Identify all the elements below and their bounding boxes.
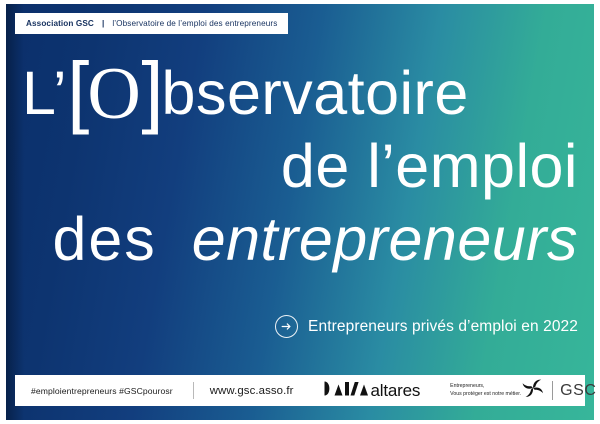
footer-divider: [193, 382, 194, 399]
gsc-pinwheel-icon: [521, 376, 545, 405]
poster-cover: Association GSC | l’Observatoire de l’em…: [0, 0, 600, 424]
subtitle-row: Entrepreneurs privés d’emploi en 2022: [275, 315, 578, 338]
eyebrow-separator: |: [102, 19, 104, 28]
headline-prefix: L’: [22, 59, 67, 127]
headline-line-1: L’[O]bservatoire: [22, 64, 578, 124]
gsc-logo: GSC: [521, 376, 600, 405]
eyebrow-organisation: Association GSC: [26, 19, 94, 28]
subtitle-text: Entrepreneurs privés d’emploi en 2022: [308, 318, 578, 336]
footer-website-url[interactable]: www.gsc.asso.fr: [210, 385, 294, 397]
footer-bar: #emploientrepreneurs #GSCpourosr www.gsc…: [15, 375, 585, 406]
gsc-tagline: Entrepreneurs, Vous protéger est notre m…: [450, 383, 521, 399]
eyebrow-bar: Association GSC | l’Observatoire de l’em…: [15, 13, 288, 34]
arrow-right-circle-icon: [275, 315, 298, 338]
gsc-logo-divider: [552, 381, 553, 400]
headline-bracket-open: [: [67, 46, 87, 135]
headline-line-2: de l’emploi: [22, 137, 578, 197]
headline-highlight-letter: O: [87, 53, 141, 135]
headline-line-3-regular: des: [52, 205, 156, 273]
altares-wordmark: altares: [371, 382, 421, 399]
altares-triangles-icon: [324, 380, 370, 402]
gsc-tagline-line-1: Entrepreneurs,: [450, 383, 484, 389]
gsc-tagline-line-2: Vous protéger est notre métier.: [450, 391, 521, 397]
headline-line-3: des entrepreneurs: [22, 210, 578, 270]
footer-hashtags: #emploientrepreneurs #GSCpourosr: [25, 386, 173, 396]
headline-bracket-close: ]: [141, 46, 161, 135]
altares-logo: altares: [324, 380, 421, 402]
eyebrow-publication: l’Observatoire de l’emploi des entrepren…: [112, 19, 277, 28]
headline-line-3-italic: entrepreneurs: [192, 205, 578, 273]
page-title: L’[O]bservatoire de l’emploi des entrepr…: [22, 64, 578, 269]
gsc-wordmark: GSC: [560, 383, 596, 399]
headline-suffix: bservatoire: [162, 59, 469, 127]
